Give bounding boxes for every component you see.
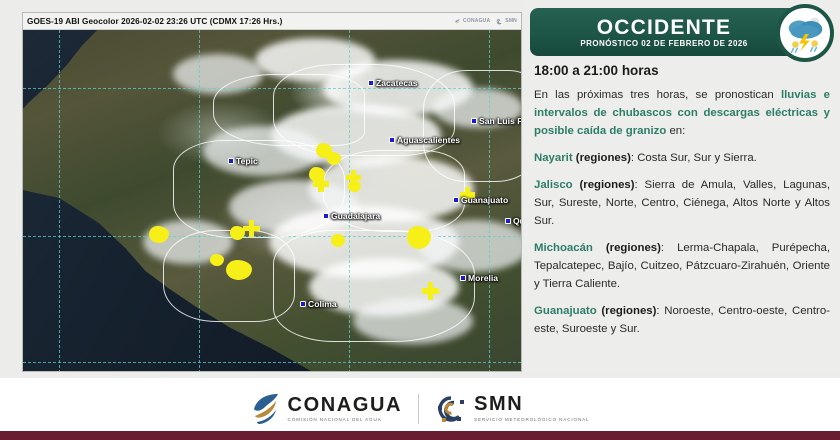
regiones-label: (regiones) xyxy=(606,242,661,254)
separator: : xyxy=(635,179,645,191)
map-conagua-logo: CONAGUA xyxy=(454,18,490,25)
city-name: Aguascalientes xyxy=(397,135,460,145)
city-label: Aguascalientes xyxy=(389,135,460,145)
city-label: Guanajuato xyxy=(453,195,508,205)
state-border xyxy=(423,70,521,182)
map-title: GOES-19 ABI Geocolor 2026-02-02 23:26 UT… xyxy=(27,17,282,26)
city-label: Queretaro xyxy=(505,216,521,226)
state-name: Guanajuato xyxy=(534,305,601,317)
smn-subtitle: SERVICIO METEOROLÓGICO NACIONAL xyxy=(474,417,589,424)
city-label: San Luis Potosi xyxy=(471,116,521,126)
footer-divider xyxy=(418,394,419,424)
city-label: Morelia xyxy=(460,273,498,283)
affected-states-list: Nayarit (regiones): Costa Sur, Sur y Sie… xyxy=(534,149,830,338)
storm-marker xyxy=(313,176,329,192)
city-marker-dot xyxy=(300,301,306,307)
grid-line-vertical xyxy=(59,30,60,372)
forecast-panel: OCCIDENTE PRONÓSTICO 02 DE FEBRERO DE 20… xyxy=(524,0,840,372)
city-marker-dot xyxy=(389,137,395,143)
state-forecast-item: Jalisco (regiones): Sierra de Amula, Val… xyxy=(534,176,830,230)
time-range: 18:00 a 21:00 horas xyxy=(534,63,659,78)
city-label: Colima xyxy=(300,299,337,309)
map-titlebar-logos: CONAGUA SMN xyxy=(454,18,517,25)
conagua-name: CONAGUA xyxy=(288,395,403,415)
city-name: Queretaro xyxy=(513,216,521,226)
thunderstorm-hail-icon xyxy=(776,4,834,62)
storm-marker xyxy=(422,282,439,300)
state-forecast-item: Guanajuato (regiones): Noroeste, Centro-… xyxy=(534,302,830,338)
city-marker-dot xyxy=(368,80,374,86)
regiones-label: (regiones) xyxy=(579,179,634,191)
conagua-subtitle: COMISIÓN NACIONAL DEL AGUA xyxy=(288,418,403,423)
state-forecast-item: Michoacán (regiones): Lerma-Chapala, Pur… xyxy=(534,239,830,293)
smn-text: SMN SERVICIO METEOROLÓGICO NACIONAL xyxy=(474,394,589,424)
map-titlebar: GOES-19 ABI Geocolor 2026-02-02 23:26 UT… xyxy=(23,13,521,30)
city-label: Guadalajara xyxy=(323,211,380,221)
map-smn-logo: SMN xyxy=(496,18,517,25)
storm-marker xyxy=(243,220,260,237)
separator: : xyxy=(661,242,677,254)
city-marker-dot xyxy=(453,197,459,203)
city-label: Tepic xyxy=(228,156,258,166)
city-name: San Luis Potosi xyxy=(479,116,521,126)
map-smn-label: SMN xyxy=(505,18,517,24)
city-name: Guadalajara xyxy=(331,211,380,221)
regiones-label: (regiones) xyxy=(576,152,631,164)
conagua-eagle-icon xyxy=(454,18,461,25)
satellite-map-panel[interactable]: GOES-19 ABI Geocolor 2026-02-02 23:26 UT… xyxy=(22,12,522,372)
regiones-label: (regiones) xyxy=(601,305,656,317)
city-marker-dot xyxy=(323,213,329,219)
forecast-date: PRONÓSTICO 02 DE FEBRERO DE 2026 xyxy=(580,39,747,48)
city-name: Morelia xyxy=(468,273,498,283)
city-name: Guanajuato xyxy=(461,195,508,205)
conagua-eagle-icon xyxy=(251,392,281,426)
city-marker-dot xyxy=(505,218,511,224)
city-name: Colima xyxy=(308,299,337,309)
intro-lead: En las próximas tres horas, se pronostic… xyxy=(534,89,781,101)
smn-spiral-icon xyxy=(496,18,503,25)
city-label: Zacatecas xyxy=(368,78,418,88)
city-marker-dot xyxy=(471,118,477,124)
map-imagery[interactable]: ZacatecasSan Luis PotosiAguascalientesTe… xyxy=(23,30,521,372)
conagua-text: CONAGUA COMISIÓN NACIONAL DEL AGUA xyxy=(288,395,403,423)
smn-name: SMN xyxy=(474,394,589,414)
city-name: Tepic xyxy=(236,156,258,166)
footer-accent-bar xyxy=(0,431,840,440)
storm-cloud-glyph xyxy=(782,10,828,56)
state-name: Michoacán xyxy=(534,242,606,254)
region-banner: OCCIDENTE PRONÓSTICO 02 DE FEBRERO DE 20… xyxy=(530,8,798,56)
city-marker-dot xyxy=(460,275,466,281)
smn-logo: SMN SERVICIO METEOROLÓGICO NACIONAL xyxy=(435,393,589,425)
conagua-logo: CONAGUA COMISIÓN NACIONAL DEL AGUA xyxy=(251,392,403,426)
forecast-body: En las próximas tres horas, se pronostic… xyxy=(534,86,830,347)
city-marker-dot xyxy=(228,158,234,164)
smn-spiral-icon xyxy=(435,393,467,425)
state-name: Nayarit xyxy=(534,152,576,164)
forecast-intro: En las próximas tres horas, se pronostic… xyxy=(534,86,830,140)
state-forecast-item: Nayarit (regiones): Costa Sur, Sur y Sie… xyxy=(534,149,830,167)
city-name: Zacatecas xyxy=(376,78,418,88)
region-title: OCCIDENTE xyxy=(597,17,731,38)
state-border xyxy=(273,230,475,342)
state-regions: Costa Sur, Sur y Sierra. xyxy=(637,152,757,164)
intro-tail: en: xyxy=(666,125,685,137)
grid-line-horizontal xyxy=(23,362,521,363)
map-conagua-label: CONAGUA xyxy=(463,18,490,24)
state-name: Jalisco xyxy=(534,179,579,191)
